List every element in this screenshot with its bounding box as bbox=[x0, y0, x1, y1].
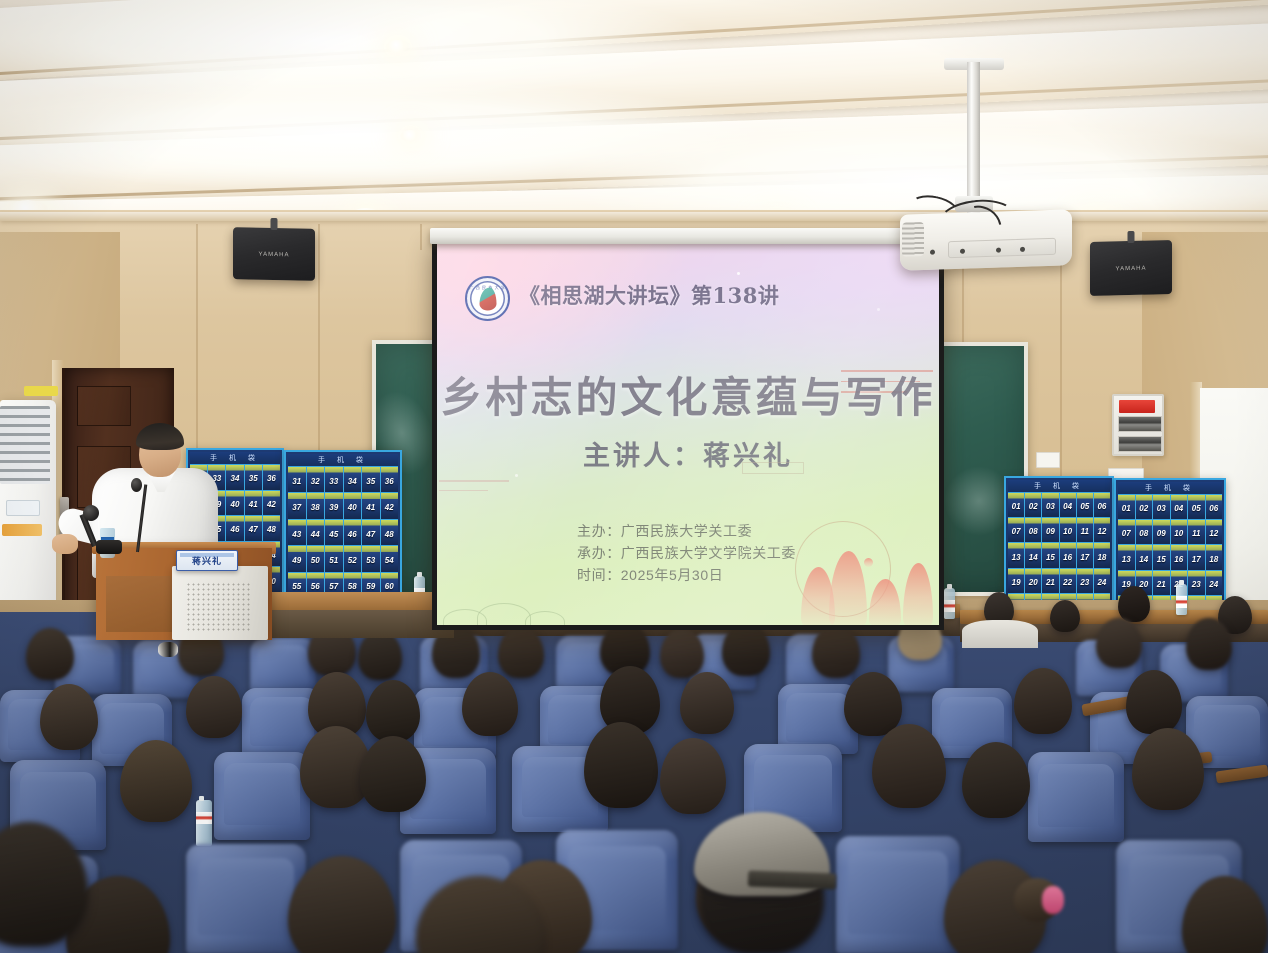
podium-side-cabinet bbox=[172, 566, 268, 640]
audience-seat[interactable] bbox=[1028, 752, 1124, 842]
phone-pocket[interactable]: 41 bbox=[245, 491, 263, 516]
phone-pocket[interactable]: 05 bbox=[1188, 495, 1206, 519]
phone-pocket[interactable]: 38 bbox=[307, 493, 326, 518]
audience-head bbox=[366, 680, 420, 742]
water-bottle[interactable] bbox=[196, 800, 212, 846]
phone-board-row: 19 20 21 22 23 24 bbox=[1008, 569, 1110, 594]
phone-pocket[interactable]: 16 bbox=[1060, 543, 1077, 567]
phone-pocket[interactable]: 48 bbox=[381, 520, 399, 545]
phone-pocket[interactable]: 18 bbox=[1094, 543, 1110, 567]
slide-credit-organizer: 主办：广西民族大学关工委 bbox=[577, 520, 796, 542]
phone-pocket[interactable]: 14 bbox=[1136, 545, 1154, 569]
ac-energy-label bbox=[2, 524, 42, 536]
wall-speaker-left: YAMAHA bbox=[233, 227, 315, 281]
phone-pocket[interactable]: 41 bbox=[362, 493, 381, 518]
speaker-name-label: 蒋兴礼 bbox=[192, 554, 222, 567]
phone-pocket[interactable]: 36 bbox=[263, 465, 280, 490]
phone-pocket[interactable]: 43 bbox=[288, 520, 307, 545]
phone-pocket[interactable]: 46 bbox=[344, 520, 363, 545]
phone-pocket[interactable]: 15 bbox=[1153, 545, 1171, 569]
speaker-hand bbox=[52, 534, 78, 554]
phone-pocket[interactable]: 11 bbox=[1188, 520, 1206, 544]
phone-board-title: 手 机 袋 bbox=[1008, 480, 1110, 493]
speaker-brand-label: YAMAHA bbox=[1116, 266, 1147, 273]
slide-credit-host: 承办：广西民族大学文学院关工委 bbox=[577, 542, 796, 564]
phone-pocket[interactable]: 15 bbox=[1042, 543, 1059, 567]
phone-pocket[interactable]: 16 bbox=[1171, 545, 1189, 569]
projection-screen: 广 西 民 族 大 学 《相思湖大讲坛》第138讲 乡村志的文化意蕴与写作 主讲… bbox=[432, 238, 944, 630]
phone-pocket[interactable]: 13 bbox=[1118, 545, 1136, 569]
podium-microphone-head bbox=[131, 478, 142, 492]
slide-decor-cloud bbox=[477, 603, 531, 625]
audience-head bbox=[660, 628, 704, 678]
phone-pocket[interactable]: 09 bbox=[1153, 520, 1171, 544]
phone-pocket[interactable]: 48 bbox=[263, 516, 280, 541]
cabinet-speaker-grille bbox=[186, 582, 252, 632]
audience-head bbox=[1096, 618, 1142, 668]
phone-pocket[interactable]: 22 bbox=[1060, 569, 1077, 593]
phone-pocket[interactable]: 24 bbox=[1094, 569, 1110, 593]
ceiling bbox=[0, 0, 1268, 232]
slide-decor-box bbox=[742, 462, 804, 474]
speaker-brand-label: YAMAHA bbox=[259, 252, 290, 259]
ac-top-tag bbox=[24, 386, 58, 396]
logo-flame-icon bbox=[479, 288, 496, 311]
phone-pocket[interactable]: 02 bbox=[1025, 493, 1042, 517]
audience-head bbox=[498, 626, 544, 678]
phone-pocket[interactable]: 13 bbox=[1008, 543, 1025, 567]
phone-pocket[interactable]: 51 bbox=[325, 546, 344, 571]
phone-pocket[interactable]: 32 bbox=[307, 467, 326, 492]
phone-board-row: 07 08 09 10 11 12 bbox=[1118, 520, 1222, 545]
breaker-row-1[interactable] bbox=[1118, 416, 1162, 432]
audience-seat[interactable] bbox=[836, 836, 960, 953]
phone-pocket[interactable]: 17 bbox=[1077, 543, 1094, 567]
phone-pocket[interactable]: 50 bbox=[307, 546, 326, 571]
slide-decor-mountain-small bbox=[864, 558, 873, 567]
audience-head bbox=[1186, 618, 1232, 670]
phone-pocket[interactable]: 40 bbox=[226, 491, 244, 516]
front-desk-surface bbox=[264, 592, 454, 610]
phone-pocket[interactable]: 08 bbox=[1025, 518, 1042, 542]
wall-trim-upper bbox=[0, 212, 1268, 221]
phone-pocket[interactable]: 10 bbox=[1060, 518, 1077, 542]
phone-board-row: 01 02 03 04 05 06 bbox=[1118, 495, 1222, 520]
slide-credit-date: 时间：2025年5月30日 bbox=[577, 564, 796, 586]
audience-head bbox=[1050, 600, 1080, 632]
phone-board-row: 49 50 51 52 53 54 bbox=[288, 546, 398, 572]
hair-tie bbox=[1042, 886, 1064, 914]
projector-pole-mount bbox=[967, 62, 980, 214]
phone-pocket[interactable]: 42 bbox=[381, 493, 399, 518]
phone-pocket[interactable]: 44 bbox=[307, 520, 326, 545]
phone-pocket[interactable]: 37 bbox=[288, 493, 307, 518]
audience-head bbox=[26, 628, 74, 680]
projection-screen-housing bbox=[430, 228, 948, 244]
phone-pocket[interactable]: 42 bbox=[263, 491, 280, 516]
phone-pocket[interactable]: 12 bbox=[1094, 518, 1110, 542]
phone-pocket[interactable]: 04 bbox=[1060, 493, 1077, 517]
audience-seat[interactable] bbox=[214, 752, 310, 840]
phone-pocket[interactable]: 34 bbox=[344, 467, 363, 492]
phone-board-title: 手 机 袋 bbox=[288, 454, 398, 467]
handheld-microphone-head bbox=[83, 505, 99, 521]
ceiling-downlight bbox=[386, 40, 410, 53]
phone-pocket[interactable]: 04 bbox=[1171, 495, 1189, 519]
phone-board-row: 07 08 09 10 11 12 bbox=[1008, 518, 1110, 543]
phone-pocket[interactable]: 01 bbox=[1008, 493, 1025, 517]
phone-pocket[interactable]: 45 bbox=[325, 520, 344, 545]
audience-seat[interactable] bbox=[250, 638, 316, 694]
phone-pocket[interactable]: 06 bbox=[1094, 493, 1110, 517]
presentation-slide: 广 西 民 族 大 学 《相思湖大讲坛》第138讲 乡村志的文化意蕴与写作 主讲… bbox=[437, 244, 939, 625]
phone-board-row: 31 32 33 34 35 36 bbox=[288, 467, 398, 493]
slide-title: 乡村志的文化意蕴与写作 bbox=[440, 364, 935, 425]
phone-board-row: 37 38 39 40 41 42 bbox=[288, 493, 398, 519]
lecture-hall-scene: YAMAHA YAMAHA 广 西 民 族 大 学 《相思湖大讲坛》第138讲 bbox=[0, 0, 1268, 953]
phone-pocket[interactable]: 01 bbox=[1118, 495, 1136, 519]
phone-pocket[interactable]: 08 bbox=[1136, 520, 1154, 544]
phone-pocket[interactable]: 47 bbox=[362, 520, 381, 545]
ceiling-downlight bbox=[400, 130, 422, 142]
projector-vent bbox=[902, 222, 924, 257]
phone-pocket[interactable]: 34 bbox=[226, 465, 244, 490]
phone-pocket[interactable]: 19 bbox=[1008, 569, 1025, 593]
phone-pocket[interactable]: 40 bbox=[344, 493, 363, 518]
phone-pocket[interactable]: 14 bbox=[1025, 543, 1042, 567]
phone-pocket[interactable]: 11 bbox=[1077, 518, 1094, 542]
phone-pocket[interactable]: 18 bbox=[1206, 545, 1223, 569]
phone-board-title: 手 机 袋 bbox=[190, 452, 280, 465]
phone-pocket[interactable]: 03 bbox=[1153, 495, 1171, 519]
phone-pocket[interactable]: 36 bbox=[381, 467, 399, 492]
water-bottle[interactable] bbox=[944, 588, 955, 619]
hair-clip bbox=[158, 642, 178, 657]
phone-pocket[interactable]: 03 bbox=[1042, 493, 1059, 517]
phone-pocket[interactable]: 49 bbox=[288, 546, 307, 571]
phone-pocket[interactable]: 46 bbox=[226, 516, 244, 541]
university-logo-icon: 广 西 民 族 大 学 bbox=[465, 276, 510, 321]
phone-pocket[interactable]: 02 bbox=[1136, 495, 1154, 519]
phone-pocket[interactable]: 21 bbox=[1042, 569, 1059, 593]
audience-shoulder bbox=[962, 620, 1038, 648]
phone-pocket[interactable]: 31 bbox=[288, 467, 307, 492]
phone-pocket[interactable]: 06 bbox=[1206, 495, 1223, 519]
phone-board-title: 手 机 袋 bbox=[1118, 482, 1222, 495]
wall-speaker-right: YAMAHA bbox=[1090, 240, 1172, 296]
phone-pocket[interactable]: 35 bbox=[362, 467, 381, 492]
phone-pocket[interactable]: 54 bbox=[381, 546, 399, 571]
phone-pocket[interactable]: 12 bbox=[1206, 520, 1223, 544]
phone-pocket[interactable]: 09 bbox=[1042, 518, 1059, 542]
phone-pocket[interactable]: 24 bbox=[1206, 571, 1223, 595]
electrical-panel[interactable] bbox=[1112, 394, 1164, 456]
phone-pocket-board-left-b: 手 机 袋 31 32 33 34 35 36 37 38 39 40 41 4… bbox=[284, 450, 402, 602]
phone-pocket[interactable]: 21 bbox=[1153, 571, 1171, 595]
audience-head bbox=[186, 676, 242, 738]
water-bottle[interactable] bbox=[1176, 584, 1187, 615]
speaker-bracket bbox=[271, 218, 278, 230]
audience-head bbox=[812, 624, 860, 678]
breaker-row-2[interactable] bbox=[1118, 436, 1162, 452]
ac-display bbox=[6, 500, 40, 516]
audience-head bbox=[1118, 586, 1150, 622]
audience-seat[interactable] bbox=[186, 844, 306, 953]
speaker-bracket bbox=[1128, 231, 1135, 243]
phone-pocket[interactable]: 07 bbox=[1118, 520, 1136, 544]
audience-head bbox=[722, 622, 770, 676]
phone-board-row: 13 14 15 16 17 18 bbox=[1008, 543, 1110, 568]
phone-board-row: 13 14 15 16 17 18 bbox=[1118, 545, 1222, 570]
front-desk-panel bbox=[264, 610, 454, 638]
phone-pocket[interactable]: 53 bbox=[362, 546, 381, 571]
phone-board-grid: 31 32 33 34 35 36 37 38 39 40 41 42 43 4… bbox=[288, 467, 398, 598]
slide-credits: 主办：广西民族大学关工委 承办：广西民族大学文学院关工委 时间：2025年5月3… bbox=[577, 520, 796, 586]
slide-series-header: 《相思湖大讲坛》第138讲 bbox=[519, 280, 779, 310]
audience-head bbox=[680, 672, 734, 734]
phone-pocket[interactable]: 05 bbox=[1077, 493, 1094, 517]
slide-decor-lines-left bbox=[439, 480, 509, 520]
phone-pocket[interactable]: 23 bbox=[1188, 571, 1206, 595]
phone-board-row: 43 44 45 46 47 48 bbox=[288, 520, 398, 546]
slide-decor-cloud bbox=[525, 611, 565, 625]
phone-pocket[interactable]: 39 bbox=[325, 493, 344, 518]
wall-switch-plate[interactable] bbox=[1036, 452, 1060, 468]
ac-vent bbox=[0, 406, 50, 484]
phone-pocket[interactable]: 23 bbox=[1077, 569, 1094, 593]
phone-pocket[interactable]: 10 bbox=[1171, 520, 1189, 544]
breaker-main-switch[interactable] bbox=[1119, 400, 1155, 413]
phone-pocket[interactable]: 35 bbox=[245, 465, 263, 490]
phone-pocket[interactable]: 20 bbox=[1025, 569, 1042, 593]
phone-pocket[interactable]: 52 bbox=[344, 546, 363, 571]
phone-pocket[interactable]: 17 bbox=[1188, 545, 1206, 569]
speaker-nameplate: 蒋兴礼 bbox=[176, 550, 238, 571]
cap-strap bbox=[748, 870, 837, 889]
phone-board-row: 01 02 03 04 05 06 bbox=[1008, 493, 1110, 518]
phone-pocket[interactable]: 33 bbox=[325, 467, 344, 492]
phone-pocket[interactable]: 47 bbox=[245, 516, 263, 541]
slide-decor-mountain bbox=[903, 563, 933, 625]
phone-pocket[interactable]: 07 bbox=[1008, 518, 1025, 542]
microphone-base bbox=[96, 540, 122, 554]
